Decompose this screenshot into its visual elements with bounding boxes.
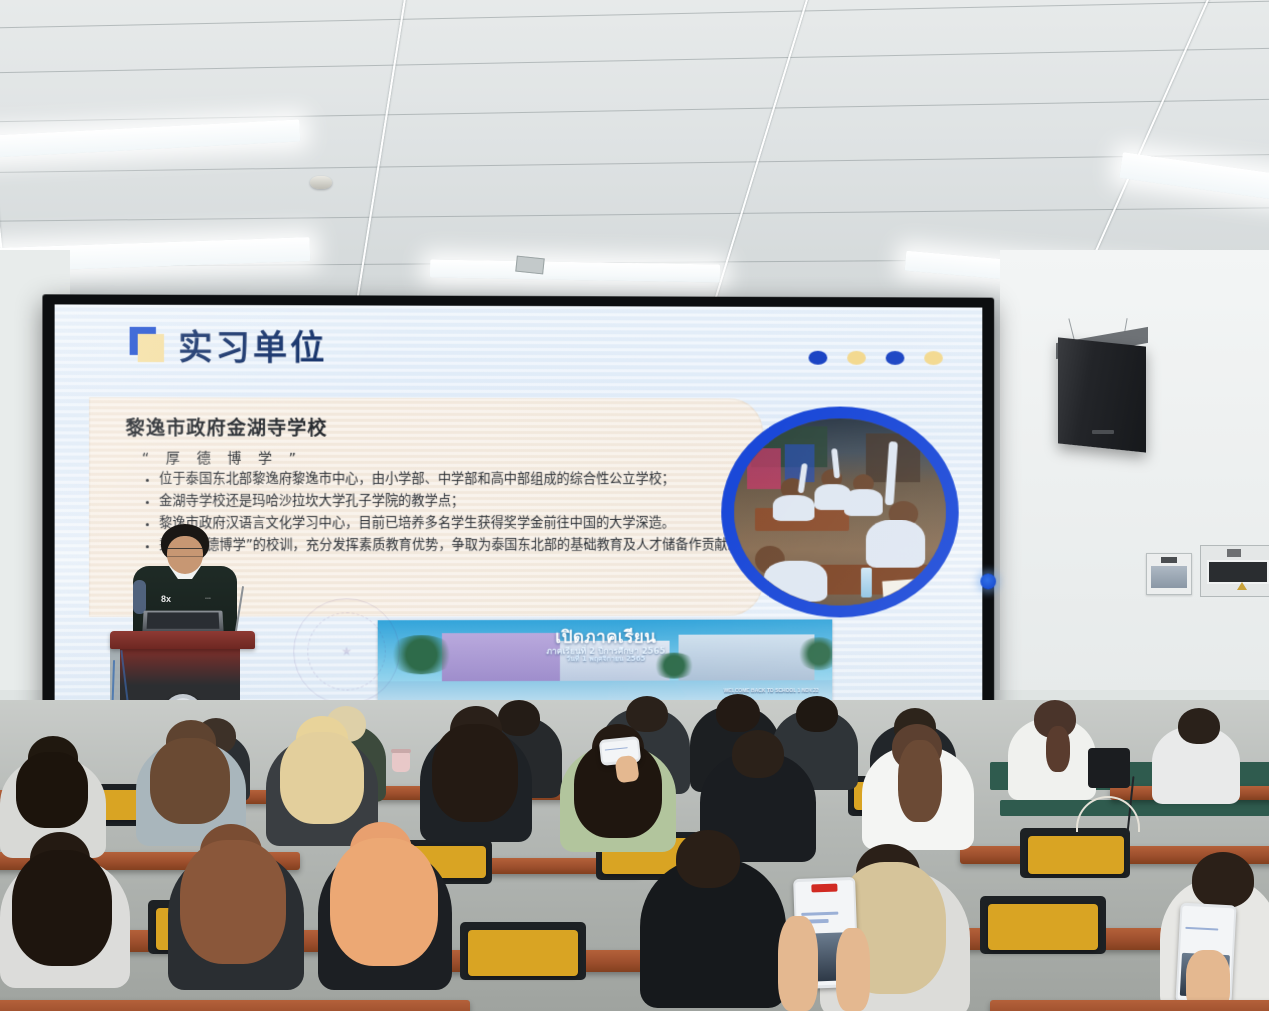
ceiling-light-panel	[0, 119, 300, 158]
slide-oval-photo	[721, 406, 958, 617]
recording-badge	[812, 884, 838, 893]
audience-hair	[1046, 726, 1070, 772]
lecture-hall-photo: 实习单位 黎逸市政府金湖寺学校 “ 厚 德 博 学 ” 位于泰国东北部黎逸府黎逸…	[0, 0, 1269, 1011]
student-body	[764, 561, 828, 602]
audience-head	[1178, 708, 1220, 744]
bullet-item: 黎逸市政府汉语言文化学习中心，目前已培养多名学生获得奖学金前往中国的大学深造。	[159, 514, 743, 534]
control-panel-screen[interactable]	[1151, 566, 1187, 588]
laptop-screen	[147, 612, 220, 628]
cup-lid	[391, 749, 411, 753]
decor-dot-yellow	[924, 351, 943, 365]
shirt-brand: ◦◦◦	[205, 596, 211, 602]
av-control-panel[interactable]	[1146, 553, 1192, 595]
control-panel-logo-icon	[1161, 557, 1177, 563]
audience-area	[0, 700, 1269, 1011]
bullet-item: 金湖寺学校还是玛哈沙拉坎大学孔子学院的教学点；	[159, 492, 743, 512]
audience-head	[676, 830, 740, 888]
phone-screen-text-line	[1185, 927, 1218, 932]
ceiling-light-panel	[1119, 152, 1269, 210]
decor-dot-blue	[809, 351, 828, 365]
slide-title: 实习单位	[178, 320, 327, 370]
audience-head	[626, 696, 668, 732]
student-body	[844, 490, 882, 516]
audience-hair	[16, 752, 88, 828]
audience-hair-blonde	[280, 732, 364, 824]
chair[interactable]	[1028, 836, 1124, 874]
hand-holding-foreground-phone	[836, 928, 870, 1011]
smoke-detector-icon	[310, 176, 332, 189]
podium-top-surface	[110, 631, 255, 649]
speaker-brand-badge	[1092, 430, 1114, 434]
slide-watermark-seal	[293, 598, 400, 705]
shirt-number: 8x	[161, 594, 171, 604]
audience-hair	[150, 738, 230, 824]
glasses-icon	[167, 548, 203, 557]
ceiling-speaker-icon	[1058, 337, 1146, 452]
podium-laptop[interactable]	[142, 611, 223, 632]
slide-heading: 黎逸市政府金湖寺学校	[126, 413, 328, 440]
title-square-yellow-icon	[138, 334, 164, 362]
student-body	[866, 519, 925, 568]
breaker-switch-row[interactable]	[1207, 560, 1269, 584]
decor-dot-yellow	[847, 351, 866, 365]
phone-screen-text-line	[801, 912, 838, 916]
classroom-scene	[734, 418, 946, 605]
paper-cup	[392, 752, 410, 772]
desk	[0, 1000, 470, 1011]
banner-date: วันที่ 1 พฤศจิกายน 2565	[378, 654, 833, 666]
slide-banner-photo: เปิดภาคเรียน ภาคเรียนที่ 2 ปีการศึกษา 25…	[378, 619, 833, 702]
presenter-sleeve-stripe	[133, 580, 146, 614]
bullet-item: 秉承“厚德博学”的校训，充分发挥素质教育优势，争取为泰国东北部的基础教育及人才储…	[159, 536, 743, 556]
audience-hair-orange	[330, 838, 438, 966]
audience-head	[1192, 852, 1254, 908]
phone-screen-text	[605, 747, 628, 750]
audience-head	[732, 730, 784, 778]
ceiling-vent	[515, 256, 545, 275]
slide-accent-dot	[980, 574, 996, 590]
camera-bag	[1088, 748, 1130, 788]
audience-hair	[898, 740, 942, 822]
audience-hair	[432, 724, 518, 822]
water-bottle	[861, 568, 872, 598]
decor-dot-blue	[886, 351, 905, 365]
ceiling-light-panel	[430, 259, 720, 282]
audience-hair	[12, 850, 112, 966]
slide-motto: “ 厚 德 博 学 ”	[142, 448, 302, 468]
audience-head	[716, 694, 760, 732]
electrical-breaker-box	[1200, 545, 1269, 597]
hand-holding-foreground-phone	[778, 916, 818, 1011]
student-body	[772, 495, 814, 521]
desk	[990, 1000, 1269, 1011]
slide-decor-dots	[809, 351, 943, 365]
audience-head	[796, 696, 838, 732]
audience-hair	[180, 840, 286, 964]
warning-triangle-icon	[1237, 582, 1247, 590]
chair[interactable]	[988, 904, 1098, 950]
oval-photo-image	[734, 418, 946, 605]
audience-head	[498, 700, 540, 736]
bullet-item: 位于泰国东北部黎逸府黎逸市中心，由小学部、中学部和高中部组成的综合性公立学校；	[159, 470, 743, 490]
worksheet-paper	[882, 578, 930, 600]
breaker-indicator	[1227, 549, 1241, 557]
classroom-shelf	[747, 448, 781, 489]
chair[interactable]	[468, 930, 578, 976]
